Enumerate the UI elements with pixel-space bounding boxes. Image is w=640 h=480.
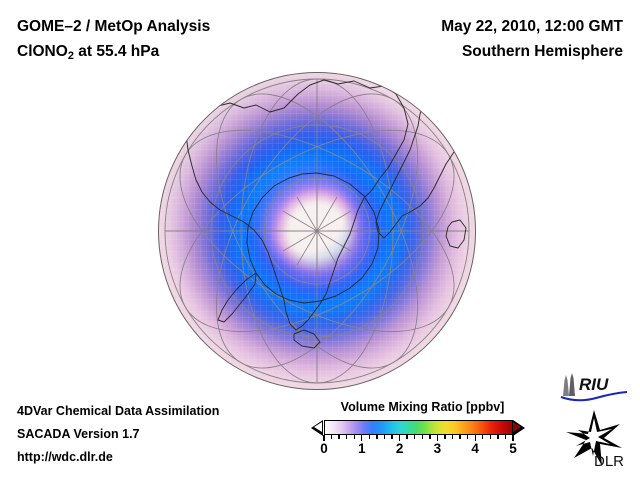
species-level-title: ClONO2 at 55.4 hPa [17, 39, 210, 66]
globe-disc [158, 72, 476, 390]
colorbar-tick-label: 0 [320, 441, 328, 456]
colorbar-tick-minor [414, 435, 415, 439]
colorbar-tick-label: 1 [358, 441, 366, 456]
header-right: May 22, 2010, 12:00 GMT Southern Hemisph… [441, 14, 623, 64]
colorbar-tick-minor [490, 435, 491, 439]
datetime-label: May 22, 2010, 12:00 GMT [441, 14, 623, 39]
footer-credits: 4DVar Chemical Data Assimilation SACADA … [17, 400, 219, 469]
colorbar-tick-minor [429, 435, 430, 439]
dlr-logo: DLR [560, 408, 632, 470]
colorbar-tick-minor [384, 435, 385, 439]
colorbar-tick-labels: 012345 [324, 441, 513, 459]
colorbar-tick-minor [406, 435, 407, 439]
colorbar-high-arrow-fill [513, 422, 521, 432]
colorbar-tick-label: 2 [396, 441, 404, 456]
colorbar-tick-label: 5 [509, 441, 517, 456]
colorbar-scale: 012345 [310, 418, 535, 438]
colorbar-low-arrow-fill [314, 422, 322, 432]
analysis-title: GOME–2 / MetOp Analysis [17, 14, 210, 39]
header-left: GOME–2 / MetOp Analysis ClONO2 at 55.4 h… [17, 14, 210, 66]
colorbar-title: Volume Mixing Ratio [ppbv] [310, 400, 535, 414]
colorbar-tick-minor [497, 435, 498, 439]
globe-limb-shading [158, 72, 476, 390]
dlr-wordmark: DLR [594, 453, 624, 470]
colorbar-tick-minor [422, 435, 423, 439]
hemisphere-label: Southern Hemisphere [441, 39, 623, 64]
riu-logo: RIU [558, 372, 630, 402]
colorbar-tick-minor [391, 435, 392, 439]
colorbar-tick-minor [452, 435, 453, 439]
website-link[interactable]: http://wdc.dlr.de [17, 446, 219, 469]
colorbar-tick-minor [444, 435, 445, 439]
colorbar-tick-minor [482, 435, 483, 439]
colorbar-tick-minor [338, 435, 339, 439]
species-label: ClONO [17, 43, 68, 60]
colorbar-tick-minor [467, 435, 468, 439]
colorbar-tick-minor [505, 435, 506, 439]
colorbar-tick-label: 4 [471, 441, 479, 456]
colorbar-tick-minor [354, 435, 355, 439]
globe-map [158, 72, 476, 390]
riu-spires-icon [563, 373, 575, 396]
colorbar-tick-minor [331, 435, 332, 439]
colorbar: Volume Mixing Ratio [ppbv] 012345 [310, 400, 535, 438]
colorbar-tick-minor [346, 435, 347, 439]
colorbar-tick-minor [369, 435, 370, 439]
method-label: 4DVar Chemical Data Assimilation [17, 400, 219, 423]
colorbar-tick-label: 3 [434, 441, 442, 456]
colorbar-tick-minor [459, 435, 460, 439]
colorbar-gradient [324, 420, 513, 435]
colorbar-tick-minor [376, 435, 377, 439]
riu-wordmark: RIU [579, 375, 609, 394]
version-label: SACADA Version 1.7 [17, 423, 219, 446]
figure-canvas: GOME–2 / MetOp Analysis ClONO2 at 55.4 h… [0, 0, 640, 480]
pressure-level-label: at 55.4 hPa [74, 43, 159, 60]
species-subscript: 2 [68, 50, 74, 62]
